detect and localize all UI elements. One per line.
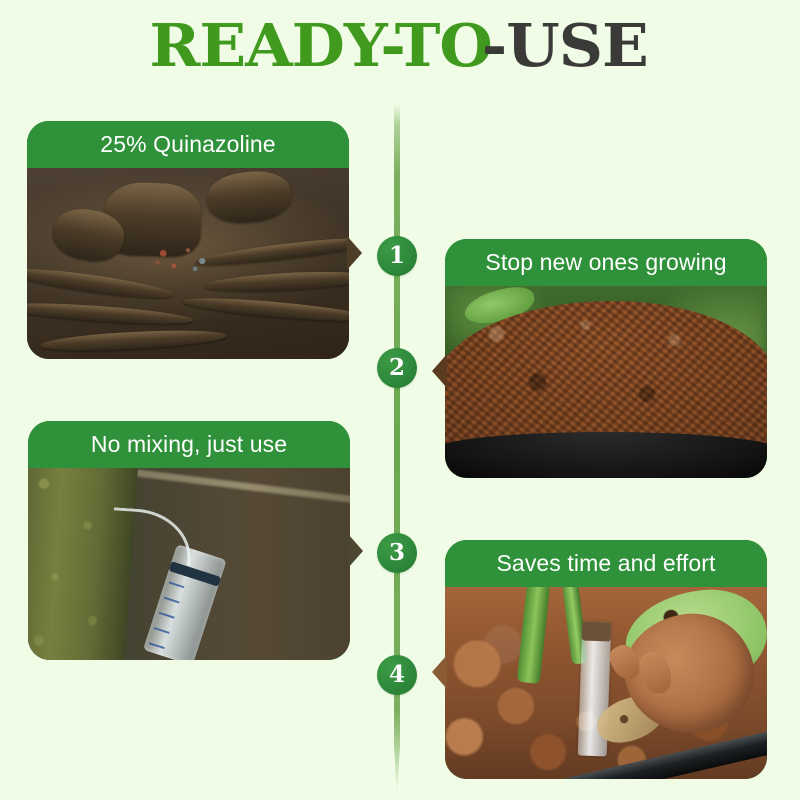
timeline-step-badge-2[interactable]: 2 — [377, 348, 417, 388]
timeline-step-number-2: 2 — [389, 356, 405, 379]
page-title-dark-segment: -USE — [482, 16, 648, 75]
timeline-step-number-4: 4 — [389, 663, 405, 686]
card-stop-new-growing-photo — [445, 286, 767, 478]
timeline-step-number-1: 1 — [389, 244, 405, 267]
card-no-mixing-title: No mixing, just use — [91, 431, 287, 458]
card-no-mixing-pointer-icon — [348, 534, 363, 568]
card-saves-time[interactable]: Saves time and effort — [445, 540, 767, 779]
card-quinazoline-photo — [27, 168, 349, 359]
timeline-step-badge-3[interactable]: 3 — [377, 533, 417, 573]
card-saves-time-photo — [445, 587, 767, 779]
card-quinazoline-title: 25% Quinazoline — [100, 131, 275, 158]
timeline-step-number-3: 3 — [389, 541, 405, 564]
page-title-green-segment: READY-TO — [149, 16, 491, 75]
card-stop-new-growing[interactable]: Stop new ones growing — [445, 239, 767, 478]
card-no-mixing-photo — [28, 468, 350, 660]
card-saves-time-title: Saves time and effort — [496, 550, 715, 577]
card-stop-new-growing-title: Stop new ones growing — [485, 249, 726, 276]
card-quinazoline-pointer-icon — [347, 236, 362, 270]
card-quinazoline[interactable]: 25% Quinazoline — [27, 121, 349, 359]
timeline-step-badge-4[interactable]: 4 — [377, 655, 417, 695]
card-saves-time-pointer-icon — [432, 655, 447, 689]
card-stop-new-growing-header: Stop new ones growing — [445, 239, 767, 286]
card-quinazoline-header: 25% Quinazoline — [27, 121, 349, 168]
timeline-step-badge-1[interactable]: 1 — [377, 236, 417, 276]
page-title: READY-TO-USE — [0, 16, 800, 75]
card-saves-time-header: Saves time and effort — [445, 540, 767, 587]
infographic-page: READY-TO-USE 1 2 3 4 25% Quinazoline — [0, 0, 800, 800]
card-no-mixing-header: No mixing, just use — [28, 421, 350, 468]
card-no-mixing[interactable]: No mixing, just use — [28, 421, 350, 660]
card-stop-new-growing-pointer-icon — [432, 354, 447, 388]
